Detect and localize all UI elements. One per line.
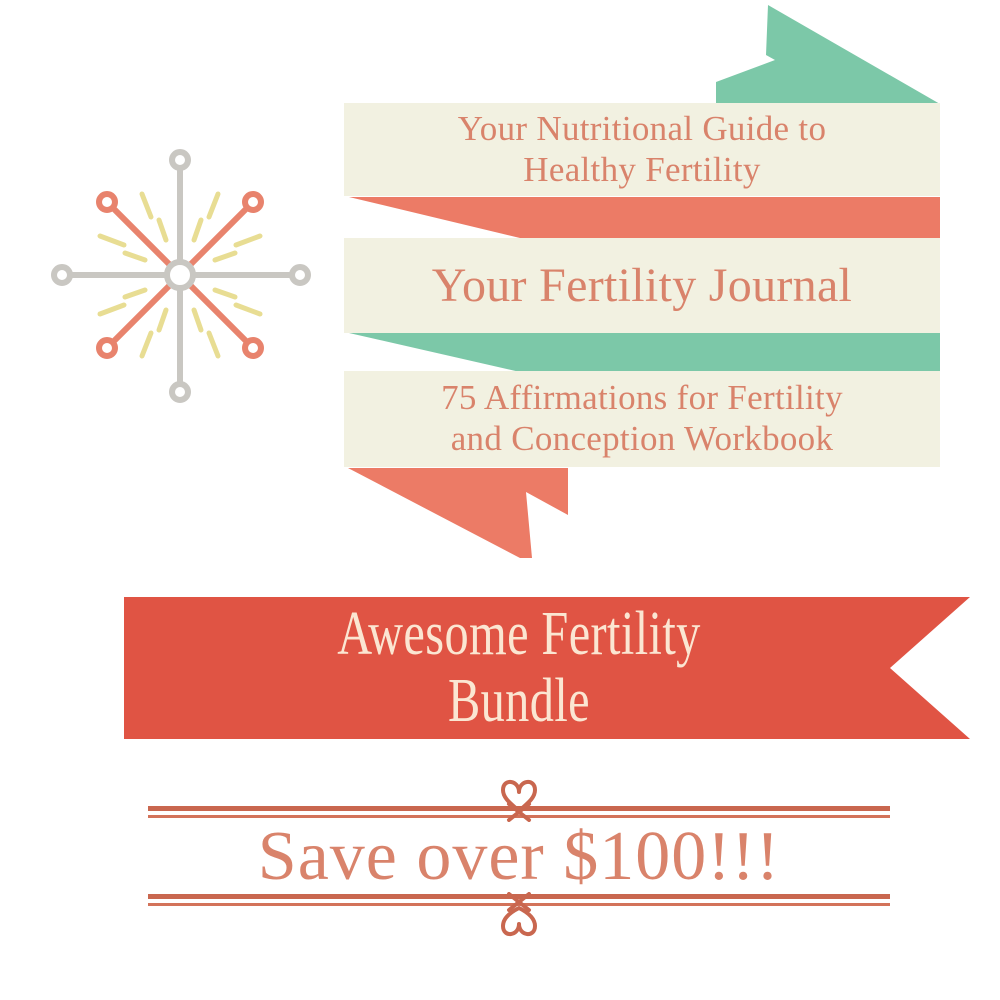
heart-ornament-up [481,774,557,822]
product-banner-nutritional-guide[interactable]: Your Nutritional Guide to Healthy Fertil… [344,103,940,196]
bundle-ribbon[interactable]: Awesome Fertility Bundle [124,597,970,739]
spoke-endpoint-left [54,267,70,283]
product-title: Your Fertility Journal [432,258,852,314]
spoke-endpoint-up-right [245,194,261,210]
savings-text: Save over $100!!! [148,820,890,894]
spoke-endpoint-down-left [99,340,115,356]
spoke-endpoint-right [292,267,308,283]
spoke-endpoint-up-left [99,194,115,210]
spoke-endpoint-down-right [245,340,261,356]
product-title: 75 Affirmations for Fertility and Concep… [441,378,843,459]
red-ribbon-tail-bottom-left [348,468,568,558]
spoke-endpoint-up [172,152,188,168]
heart-ornament-down [481,892,557,940]
spoke-endpoint-down [172,384,188,400]
red-wedge-upper [349,197,940,238]
promo-poster: Your Nutritional Guide to Healthy Fertil… [0,0,1000,1000]
product-banner-affirmations-workbook[interactable]: 75 Affirmations for Fertility and Concep… [344,371,940,467]
bundle-title: Awesome Fertility Bundle [211,597,827,739]
starburst-sparkle-icon [20,112,350,442]
product-title: Your Nutritional Guide to Healthy Fertil… [458,109,827,190]
product-banner-fertility-journal[interactable]: Your Fertility Journal [344,238,940,333]
savings-block: Save over $100!!! [148,782,890,940]
green-wedge-lower [349,333,940,372]
green-ribbon-tail-top-right [716,5,940,104]
starburst-center-hub [167,262,193,288]
